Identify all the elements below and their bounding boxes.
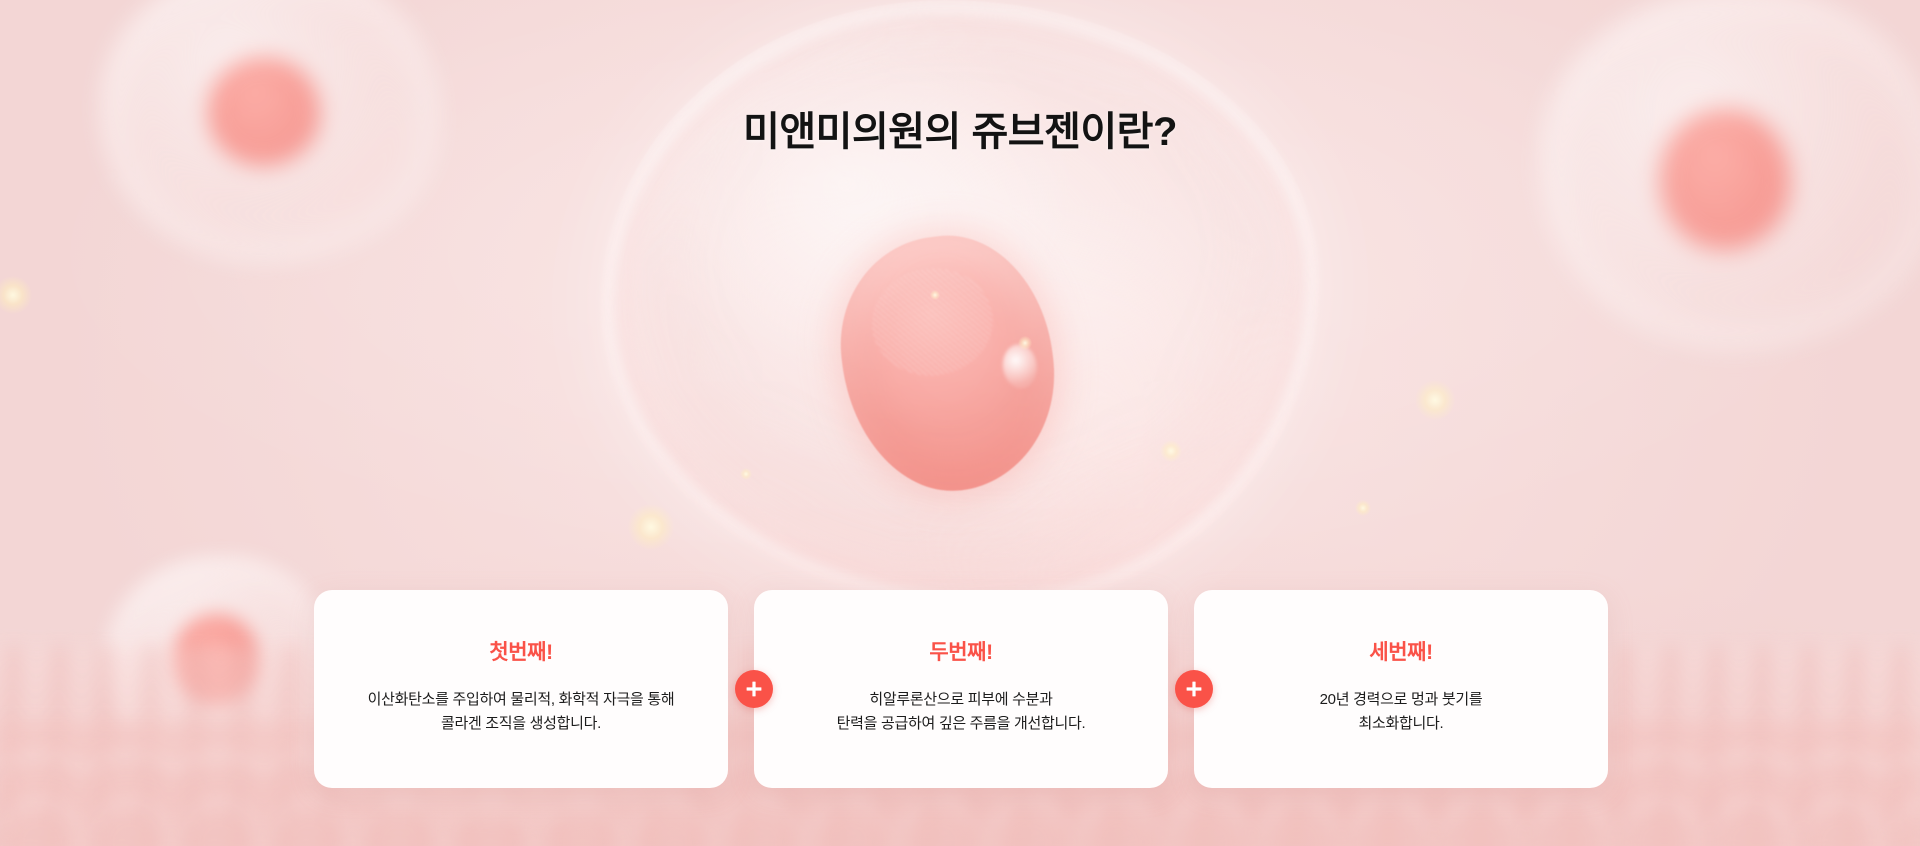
bokeh-light [1415, 380, 1455, 420]
card-body: 히알루론산으로 피부에 수분과 탄력을 공급하여 깊은 주름을 개선합니다. [837, 688, 1086, 737]
card-heading: 세번째! [1369, 636, 1432, 666]
feature-card-2[interactable]: 두번째! 히알루론산으로 피부에 수분과 탄력을 공급하여 깊은 주름을 개선합… [754, 590, 1168, 788]
feature-card-group: 첫번째! 이산화탄소를 주입하여 물리적, 화학적 자극을 통해 콜라겐 조직을… [314, 590, 1608, 788]
bokeh-light [0, 276, 32, 314]
hero-section: 미앤미의원의 쥬브젠이란? 첫번째! 이산화탄소를 주입하여 물리적, 화학적 … [0, 0, 1920, 846]
feature-card-1[interactable]: 첫번째! 이산화탄소를 주입하여 물리적, 화학적 자극을 통해 콜라겐 조직을… [314, 590, 728, 788]
card-body: 20년 경력으로 멍과 붓기를 최소화합니다. [1320, 688, 1483, 737]
bokeh-light [628, 504, 674, 550]
background-cell-right [1540, 0, 1920, 350]
plus-icon [735, 670, 773, 708]
bokeh-light [1355, 500, 1371, 516]
card-heading: 첫번째! [489, 636, 552, 666]
card-body: 이산화탄소를 주입하여 물리적, 화학적 자극을 통해 콜라겐 조직을 생성합니… [368, 688, 675, 737]
page-title: 미앤미의원의 쥬브젠이란? [0, 108, 1920, 156]
plus-icon [1175, 670, 1213, 708]
feature-card-3[interactable]: 세번째! 20년 경력으로 멍과 붓기를 최소화합니다. [1194, 590, 1608, 788]
card-heading: 두번째! [929, 636, 992, 666]
